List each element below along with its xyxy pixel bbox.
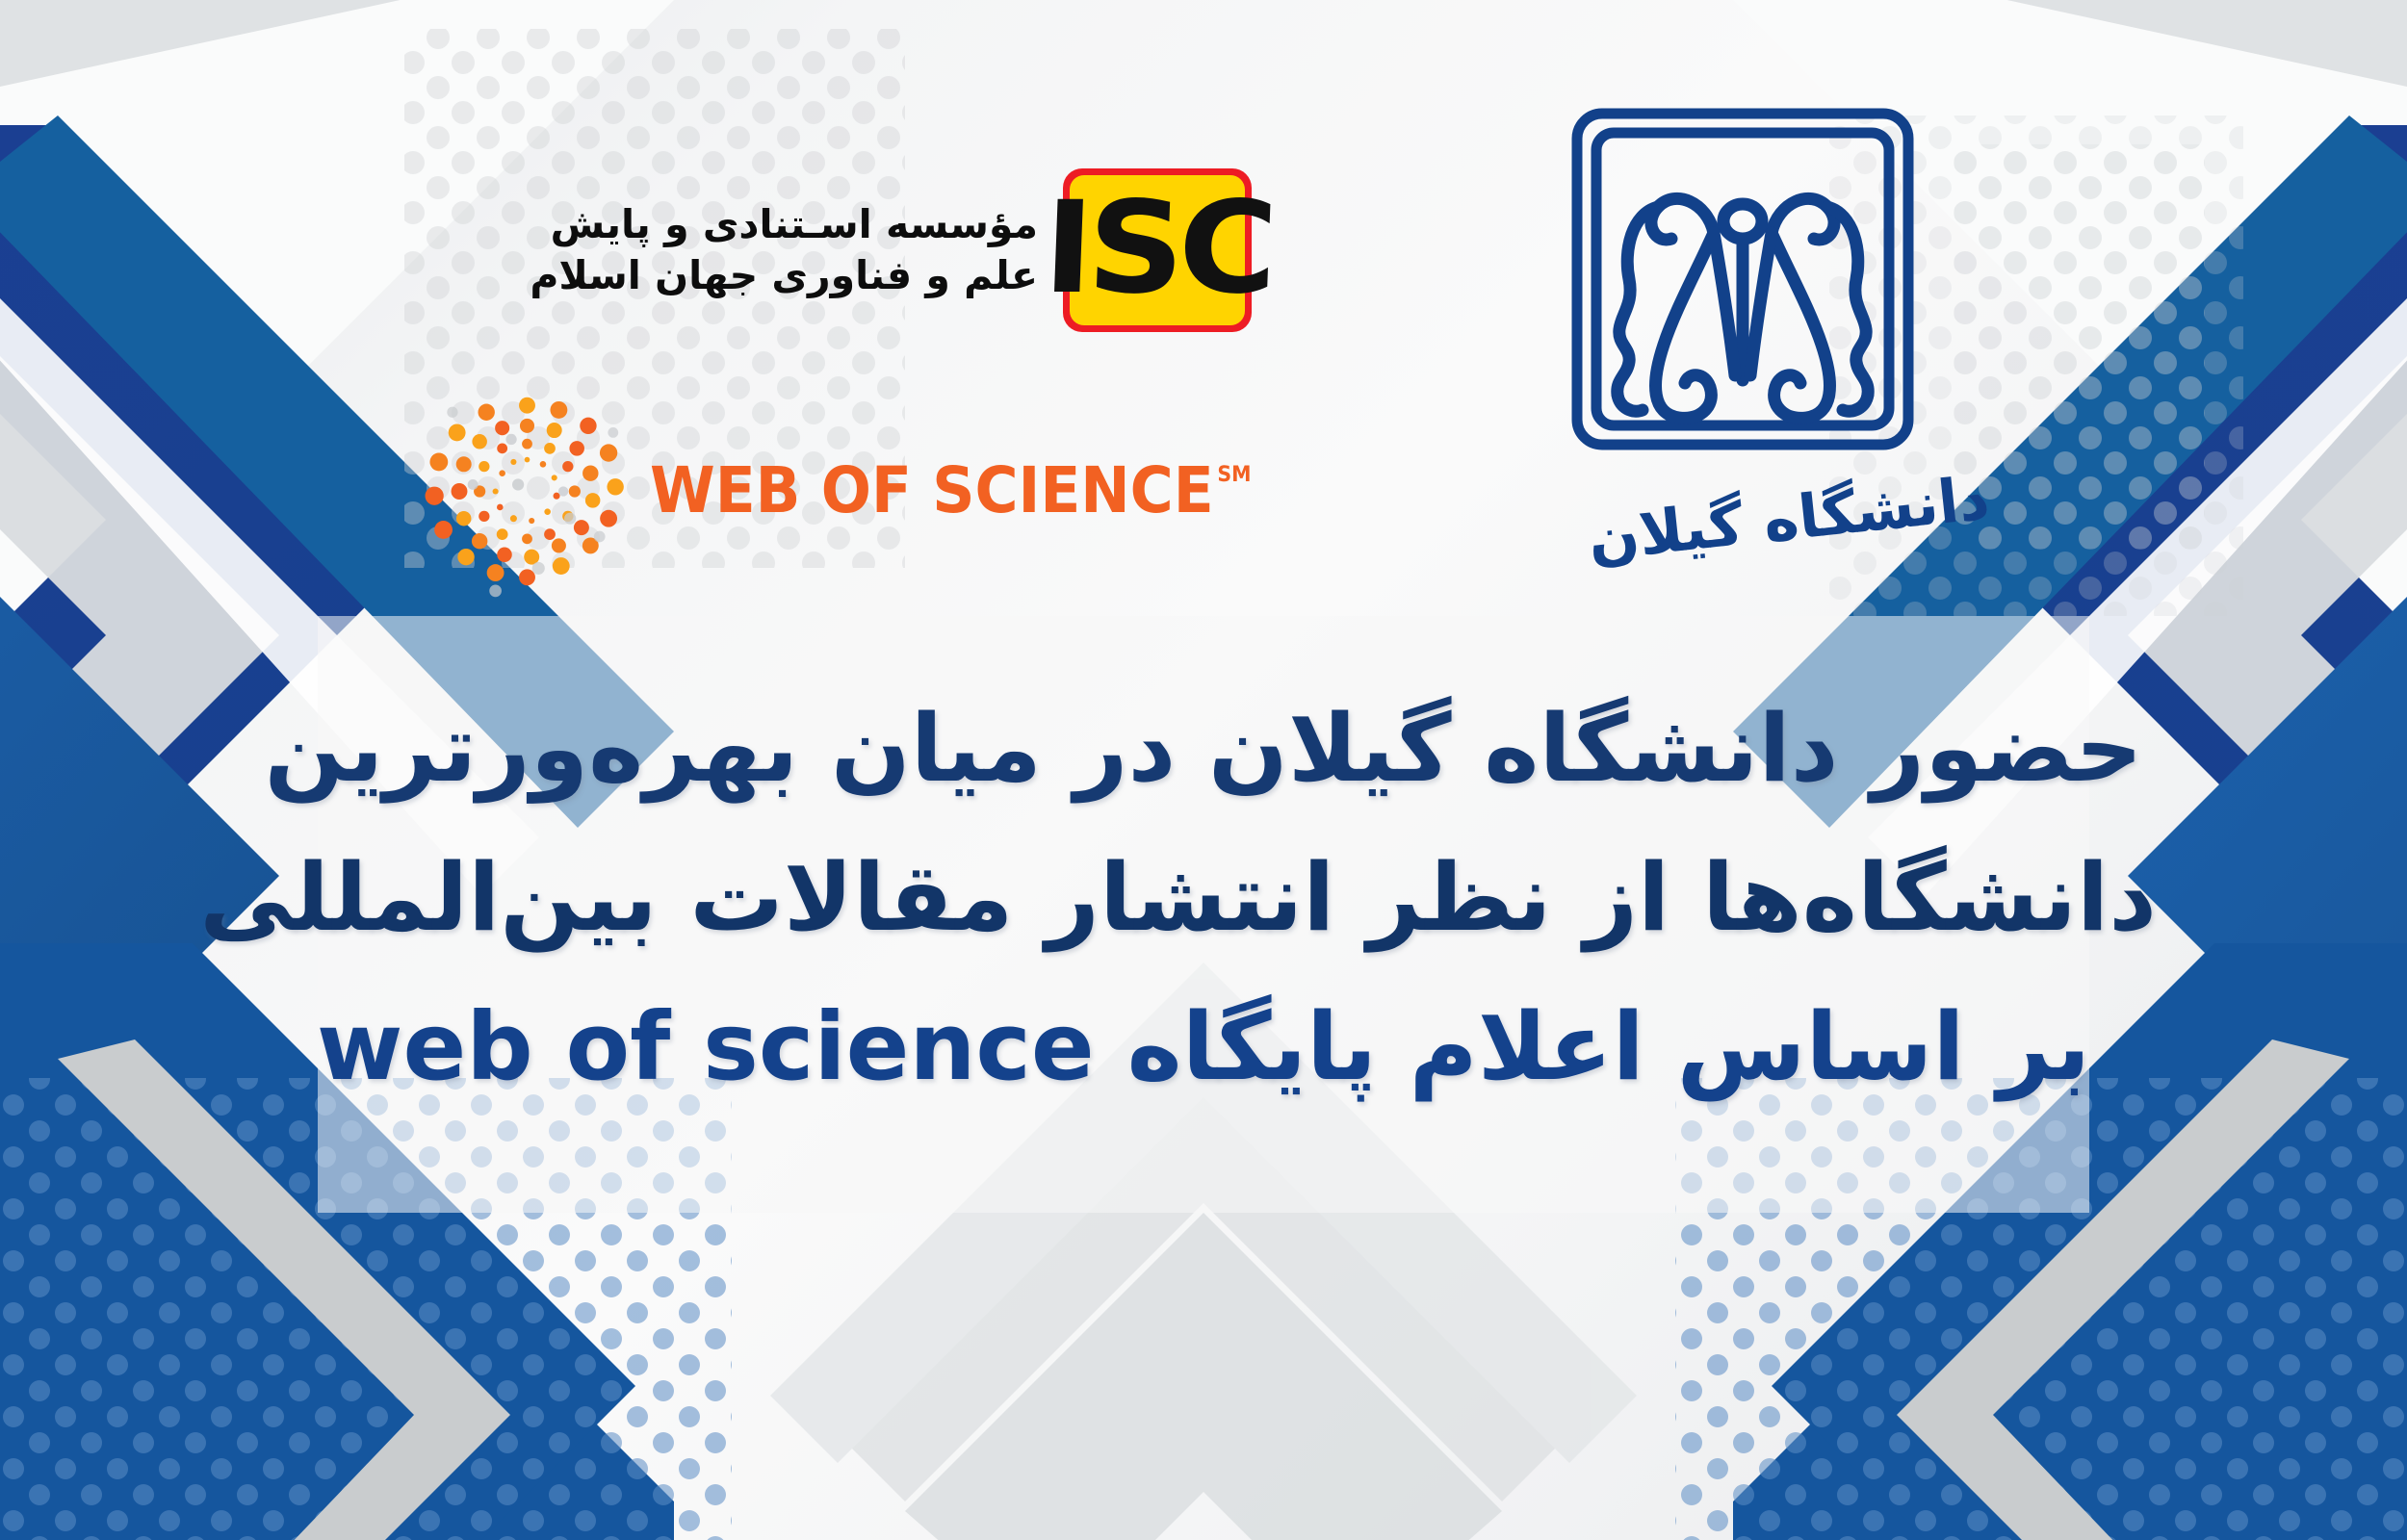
headline-line-3-persian: بر اساس اعلام پایگاه <box>1127 992 2091 1101</box>
isc-logo: مؤسسه اسـتنادی و پایش علم و فناوری جهان … <box>385 159 1252 342</box>
headline: حضور دانشگاه گیلان در میان بهره‌ورترین د… <box>250 674 2157 1122</box>
guilan-persian-name-group: دانشگاه گیلان <box>1585 462 1993 574</box>
service-mark-superscript: SM <box>1217 465 1251 486</box>
isc-logo-mark: ISC <box>1063 168 1252 332</box>
isc-mark-letters: ISC <box>1054 168 1260 332</box>
headline-line-1: حضور دانشگاه گیلان در میان بهره‌ورترین <box>250 674 2157 823</box>
isc-persian-line-2: علم و فناوری جهان اسلام <box>530 250 1038 301</box>
web-of-science-wordmark: WEB OF SCIENCE <box>650 459 1214 523</box>
web-of-science-dot-mark <box>414 378 640 604</box>
headline-line-3: بر اساس اعلام پایگاه web of science <box>250 972 2157 1121</box>
headline-line-3-latin: web of science <box>317 972 1095 1121</box>
web-of-science-logo: WEB OF SCIENCE SM <box>414 371 1252 611</box>
headline-line-2: دانشگاه‌ها از نظر انتشار مقالات بین‌المل… <box>250 823 2157 972</box>
university-of-guilan-logo: دانشگاه گیلان <box>1550 87 2032 597</box>
guilan-persian-name: دانشگاه گیلان <box>1585 462 1993 574</box>
web-of-science-wordmark-group: WEB OF SCIENCE SM <box>650 459 1251 523</box>
poster-canvas: مؤسسه اسـتنادی و پایش علم و فناوری جهان … <box>0 0 2407 1540</box>
guilan-emblem: دانشگاه گیلان <box>1550 87 2032 597</box>
isc-persian-line-1: مؤسسه اسـتنادی و پایش <box>530 199 1038 250</box>
isc-persian-name: مؤسسه اسـتنادی و پایش علم و فناوری جهان … <box>530 199 1038 302</box>
poster-content: مؤسسه اسـتنادی و پایش علم و فناوری جهان … <box>0 0 2407 1540</box>
